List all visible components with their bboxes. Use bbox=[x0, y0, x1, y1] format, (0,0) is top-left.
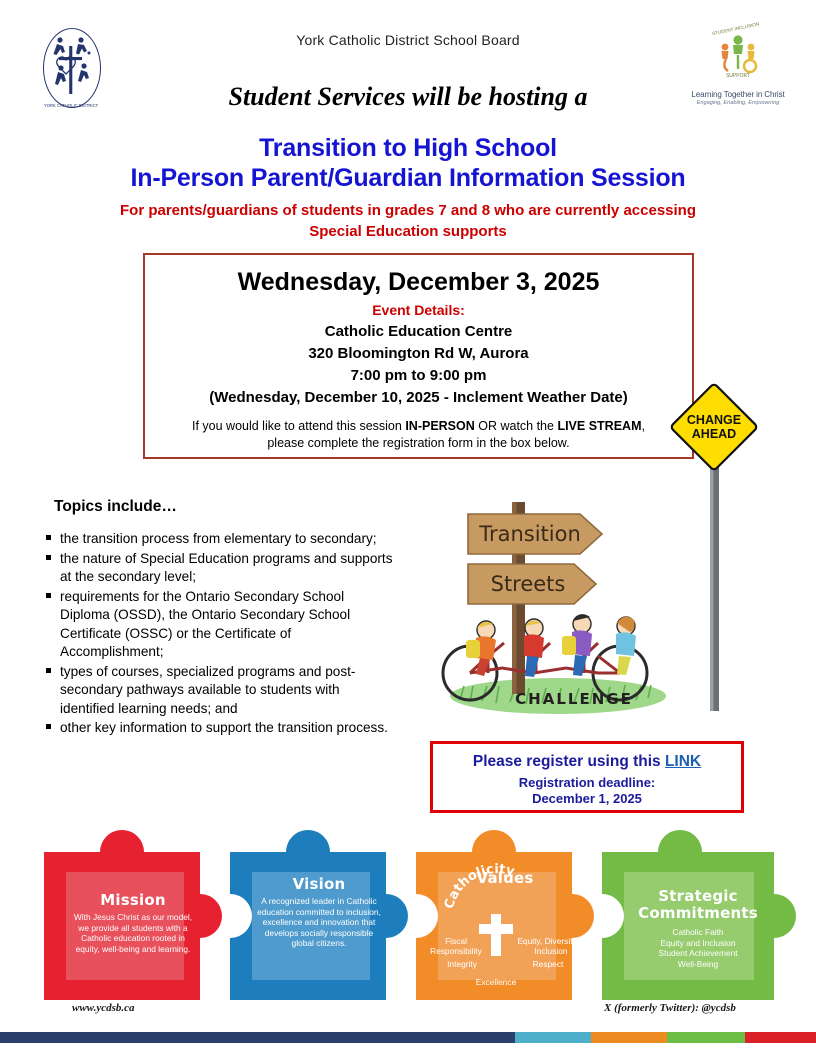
topics-heading: Topics include… bbox=[54, 498, 177, 516]
event-details-box: Wednesday, December 3, 2025 Event Detail… bbox=[143, 253, 694, 459]
puzzle-piece-mission: Mission With Jesus Christ as our model, … bbox=[40, 826, 226, 1004]
values-word-excellence: Excellence bbox=[456, 977, 536, 987]
road-sign-line2: AHEAD bbox=[692, 427, 736, 441]
puzzle-text-vision: Vision A recognized leader in Catholic e… bbox=[226, 826, 412, 1004]
color-bar-segment-red bbox=[745, 1032, 816, 1043]
bullet-icon bbox=[46, 593, 51, 598]
signpost-bike-graphic-icon: Transition Streets bbox=[430, 468, 680, 718]
topic-text: types of courses, specialized programs a… bbox=[60, 664, 355, 716]
registration-link[interactable]: LINK bbox=[665, 753, 701, 770]
event-attendance-note: If you would like to attend this session… bbox=[145, 418, 692, 452]
event-details-label: Event Details: bbox=[145, 302, 692, 318]
audience-subtitle: For parents/guardians of students in gra… bbox=[108, 200, 708, 242]
event-address: 320 Bloomington Rd W, Aurora bbox=[145, 345, 692, 362]
puzzle-piece-strategic-commitments: Strategic Commitments Catholic Faith Equ… bbox=[598, 826, 798, 1004]
event-alternate-date: (Wednesday, December 10, 2025 - Inclemen… bbox=[145, 389, 692, 406]
title-line-1: Transition to High School bbox=[0, 133, 816, 163]
list-item: the transition process from elementary t… bbox=[36, 530, 396, 549]
host-line: Student Services will be hosting a bbox=[0, 82, 816, 112]
topic-text: requirements for the Ontario Secondary S… bbox=[60, 589, 350, 660]
bullet-icon bbox=[46, 555, 51, 560]
change-ahead-sign-graphic-icon: CHANGE AHEAD bbox=[668, 383, 764, 713]
topic-text: the nature of Special Education programs… bbox=[60, 551, 393, 585]
note-pre: If you would like to attend this session bbox=[192, 419, 405, 433]
note-mid: OR watch the bbox=[475, 419, 558, 433]
puzzle-text-mission: Mission With Jesus Christ as our model, … bbox=[40, 826, 226, 1004]
footer-color-bar bbox=[0, 1032, 816, 1043]
list-item: the nature of Special Education programs… bbox=[36, 550, 396, 587]
strategic-line: Equity and Inclusion bbox=[598, 938, 798, 949]
puzzle-text-values: Values Fiscal Responsibility Equity, Div… bbox=[412, 826, 598, 1004]
topics-list: the transition process from elementary t… bbox=[36, 530, 396, 739]
color-bar-segment-green bbox=[667, 1032, 745, 1043]
values-word-fiscal: Fiscal Responsibility bbox=[428, 936, 484, 957]
footer-twitter-handle[interactable]: X (formerly Twitter): @ycdsb bbox=[604, 1002, 736, 1014]
svg-text:Streets: Streets bbox=[491, 572, 566, 596]
sign-streets: Streets bbox=[468, 564, 596, 604]
strategic-line: Well-Being bbox=[598, 959, 798, 970]
bullet-icon bbox=[46, 724, 51, 729]
flyer-page: YORK CATHOLIC DISTRICT York Catholic Dis… bbox=[0, 0, 816, 1056]
puzzle-body: A recognized leader in Catholic educatio… bbox=[226, 896, 412, 949]
note-live-stream: LIVE STREAM bbox=[557, 419, 641, 433]
list-item: requirements for the Ontario Secondary S… bbox=[36, 588, 396, 662]
footer-website[interactable]: www.ycdsb.ca bbox=[72, 1002, 135, 1014]
challenge-caption: CHALLENGE bbox=[494, 690, 654, 708]
svg-text:SUPPORT: SUPPORT bbox=[726, 73, 750, 79]
strategic-line: Student Achievement bbox=[598, 948, 798, 959]
road-sign-line1: CHANGE bbox=[687, 413, 741, 427]
page-title: Transition to High School In-Person Pare… bbox=[0, 133, 816, 193]
deadline-date: December 1, 2025 bbox=[433, 791, 741, 807]
note-line-2: please complete the registration form in… bbox=[161, 435, 676, 452]
transition-streets-illustration: Transition Streets bbox=[430, 468, 680, 728]
puzzle-title: Values bbox=[412, 870, 598, 887]
registration-headline: Please register using this LINK bbox=[433, 753, 741, 771]
values-word-integrity: Integrity bbox=[434, 959, 490, 969]
change-ahead-diamond-sign-icon: CHANGE AHEAD bbox=[668, 383, 764, 713]
title-line-2: In-Person Parent/Guardian Information Se… bbox=[0, 163, 816, 193]
puzzle-text-strategic: Strategic Commitments Catholic Faith Equ… bbox=[598, 826, 798, 1004]
topic-text: other key information to support the tra… bbox=[60, 720, 388, 735]
sis-logo-graphic-icon: STUDENT INCLUSION SUPPORT bbox=[690, 22, 786, 84]
puzzle-piece-values: Catholicity Values Fiscal Responsibility… bbox=[412, 826, 598, 1004]
note-post: , bbox=[642, 419, 645, 433]
event-venue: Catholic Education Centre bbox=[145, 323, 692, 340]
puzzle-body: With Jesus Christ as our model, we provi… bbox=[40, 912, 226, 954]
puzzle-title: Mission bbox=[40, 892, 226, 909]
registration-box[interactable]: Please register using this LINK Registra… bbox=[430, 741, 744, 813]
color-bar-segment-navy bbox=[0, 1032, 515, 1043]
color-bar-segment-blue bbox=[515, 1032, 591, 1043]
color-bar-segment-orange bbox=[591, 1032, 667, 1043]
list-item: other key information to support the tra… bbox=[36, 719, 396, 738]
topic-text: the transition process from elementary t… bbox=[60, 531, 377, 546]
event-time: 7:00 pm to 9:00 pm bbox=[145, 367, 692, 384]
deadline-label: Registration deadline: bbox=[433, 775, 741, 791]
strategic-line: Catholic Faith bbox=[598, 927, 798, 938]
values-word-respect: Respect bbox=[520, 959, 576, 969]
svg-text:Transition: Transition bbox=[478, 522, 581, 546]
puzzle-title: Strategic Commitments bbox=[598, 888, 798, 922]
note-in-person: IN-PERSON bbox=[405, 419, 474, 433]
values-word-equity: Equity, Diversity & Inclusion bbox=[516, 936, 586, 957]
puzzle-title: Vision bbox=[226, 876, 412, 893]
bullet-icon bbox=[46, 668, 51, 673]
list-item: types of courses, specialized programs a… bbox=[36, 663, 396, 719]
puzzle-piece-vision: Vision A recognized leader in Catholic e… bbox=[226, 826, 412, 1004]
registration-text: Please register using this bbox=[473, 753, 665, 770]
sign-transition: Transition bbox=[468, 514, 602, 554]
puzzle-body: Catholic Faith Equity and Inclusion Stud… bbox=[598, 927, 798, 969]
event-date: Wednesday, December 3, 2025 bbox=[145, 268, 692, 297]
registration-deadline: Registration deadline: December 1, 2025 bbox=[433, 775, 741, 807]
mission-vision-values-puzzle: Mission With Jesus Christ as our model, … bbox=[40, 826, 784, 1004]
bullet-icon bbox=[46, 535, 51, 540]
svg-text:STUDENT INCLUSION: STUDENT INCLUSION bbox=[712, 22, 760, 36]
